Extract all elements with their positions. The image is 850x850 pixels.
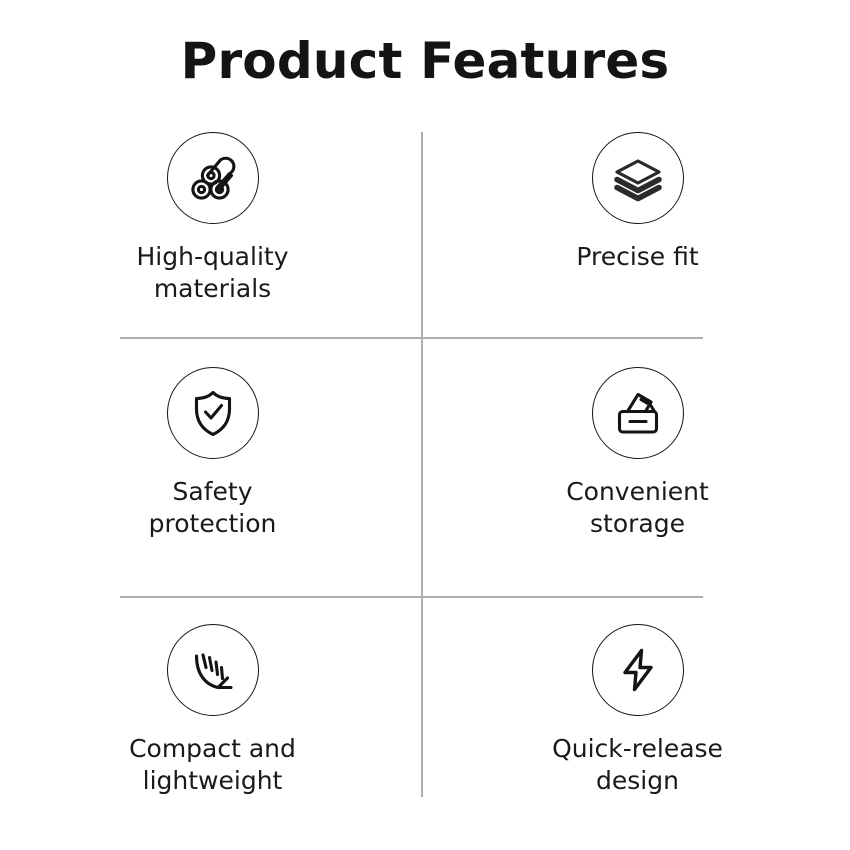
feature-label: Compact and lightweight <box>113 733 313 796</box>
shield-check-icon <box>167 367 259 459</box>
storage-pouch-icon <box>592 367 684 459</box>
product-features-infographic: Product Features <box>0 0 850 850</box>
feature-label: Precise fit <box>576 241 698 273</box>
feature-label: High-quality materials <box>113 241 313 304</box>
feature-label: Safety protection <box>113 476 313 539</box>
page-title: Product Features <box>0 34 850 89</box>
rolled-materials-icon <box>167 132 259 224</box>
feature-label: Convenient storage <box>518 476 758 539</box>
feature-label: Quick-release design <box>518 733 758 796</box>
feature-grid: High-quality materials Precise fit <box>0 118 850 818</box>
feather-icon <box>167 624 259 716</box>
layers-stack-icon <box>592 132 684 224</box>
lightning-bolt-icon <box>592 624 684 716</box>
feature-cell-safety-protection: Safety protection <box>0 337 425 596</box>
feature-cell-high-quality-materials: High-quality materials <box>0 118 425 337</box>
feature-cell-precise-fit: Precise fit <box>425 118 850 337</box>
feature-cell-convenient-storage: Convenient storage <box>425 337 850 596</box>
feature-cell-compact-lightweight: Compact and lightweight <box>0 596 425 818</box>
feature-cell-quick-release-design: Quick-release design <box>425 596 850 818</box>
